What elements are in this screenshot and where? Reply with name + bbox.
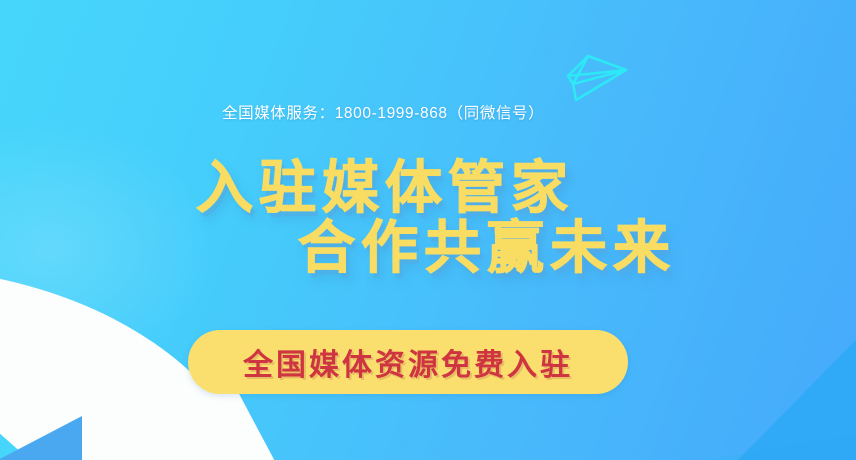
contact-phone-line: 全国媒体服务：1800-1999-868（同微信号） (222, 101, 544, 123)
promo-banner: 全国媒体服务：1800-1999-868（同微信号） 入驻媒体管家 合作共赢未来… (0, 0, 856, 460)
headline-line-2: 合作共赢未来 (298, 202, 676, 284)
cta-button[interactable]: 全国媒体资源免费入驻 (188, 330, 628, 394)
cta-button-label: 全国媒体资源免费入驻 (243, 340, 573, 384)
paper-plane-icon (560, 48, 632, 106)
bottom-left-blue-triangle (0, 416, 82, 460)
bottom-right-blue-triangle (738, 340, 856, 460)
bottom-right-blue-sliver (706, 434, 856, 460)
cyan-corner-shape (0, 432, 32, 460)
left-glow-overlay (0, 120, 220, 380)
white-wave-shape (0, 183, 269, 460)
white-wave-shape-secondary (0, 392, 302, 460)
